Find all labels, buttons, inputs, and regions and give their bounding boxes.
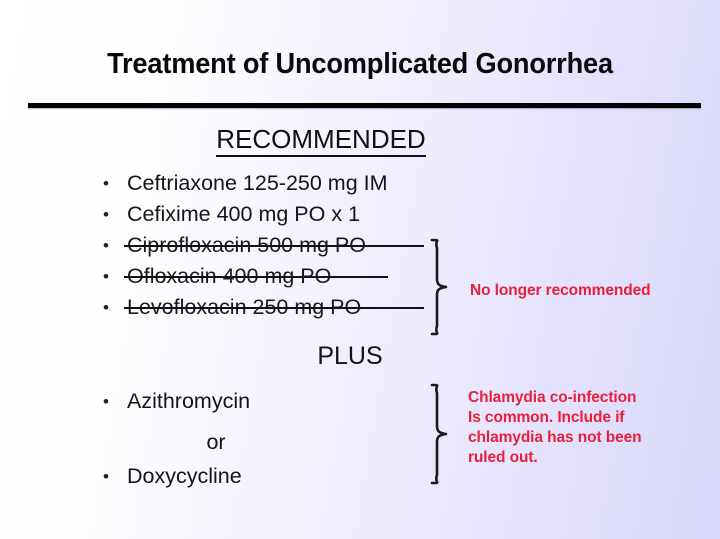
bullet-icon: •: [100, 386, 112, 417]
list-item: • Cefixime 400 mg PO x 1: [96, 199, 476, 230]
bullet-icon: •: [100, 292, 112, 323]
list-item: • Ceftriaxone 125-250 mg IM: [96, 168, 476, 199]
recommended-list: • Ceftriaxone 125-250 mg IM • Cefixime 4…: [96, 168, 476, 323]
strikethrough-line: [124, 245, 424, 247]
section-heading-label: RECOMMENDED: [216, 124, 425, 157]
bullet-icon: •: [100, 230, 112, 261]
slide-canvas: Treatment of Uncomplicated Gonorrhea REC…: [0, 0, 720, 539]
strikethrough-line: [124, 307, 424, 309]
list-item: • Azithromycin: [96, 386, 476, 417]
annotation-no-longer-recommended: No longer recommended: [470, 281, 651, 301]
brace-chlamydia: [428, 383, 454, 485]
annotation-chlamydia: Chlamydia co-infection Is common. Includ…: [468, 388, 712, 468]
list-item-struck: • Levofloxacin 250 mg PO: [96, 292, 476, 323]
list-item-label: Azithromycin: [127, 386, 250, 417]
bullet-icon: •: [100, 199, 112, 230]
annotation-line: ruled out.: [468, 448, 712, 468]
bullet-icon: •: [100, 461, 112, 492]
page-title: Treatment of Uncomplicated Gonorrhea: [16, 48, 704, 81]
title-divider: [28, 103, 701, 108]
list-item-label: Cefixime 400 mg PO x 1: [127, 199, 360, 230]
annotation-line: Chlamydia co-infection: [468, 388, 712, 408]
list-item-struck: • Ofloxacin 400 mg PO: [96, 261, 476, 292]
annotation-line: chlamydia has not been: [468, 428, 712, 448]
list-item-label: Doxycycline: [127, 461, 242, 492]
bullet-icon: •: [100, 261, 112, 292]
list-item: • Doxycycline: [96, 461, 476, 492]
list-item-label: Ceftriaxone 125-250 mg IM: [127, 168, 388, 199]
connector-plus: PLUS: [0, 342, 700, 371]
or-separator: or: [96, 430, 336, 455]
list-item-struck: • Ciprofloxacin 500 mg PO: [96, 230, 476, 261]
strikethrough-line: [124, 276, 388, 278]
bullet-icon: •: [100, 168, 112, 199]
section-heading-recommended: RECOMMENDED: [0, 124, 642, 155]
brace-discontinued: [428, 238, 454, 336]
annotation-line: Is common. Include if: [468, 408, 712, 428]
